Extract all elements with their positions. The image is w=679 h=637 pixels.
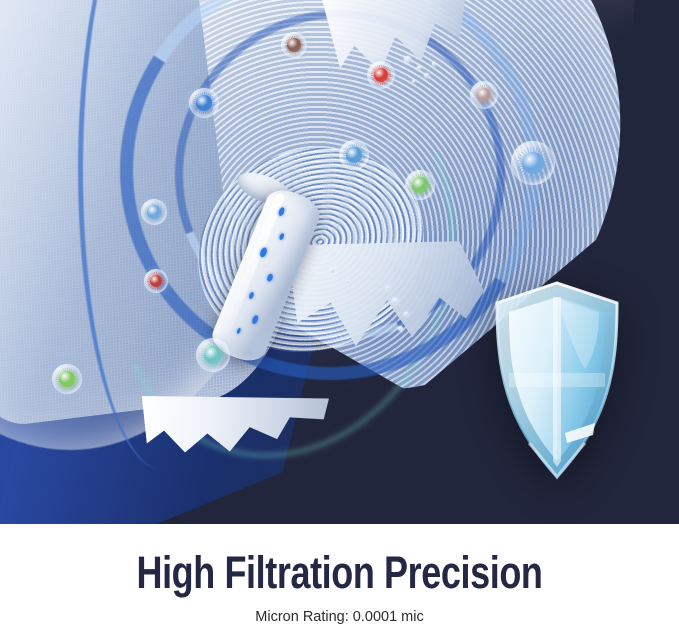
microbe-core [412, 177, 428, 193]
splash-droplet-10 [330, 268, 335, 273]
splash-droplet-11 [346, 280, 349, 283]
splash-droplet-8 [398, 326, 403, 331]
microbe-red-microbe [367, 61, 395, 89]
microbe-blue-microbe-2 [339, 140, 369, 170]
tube-droplet-4 [266, 273, 274, 282]
product-feature-card: High Filtration Precision Micron Rating:… [0, 0, 679, 637]
microbe-brown-microbe [281, 32, 307, 58]
microbe-green-microbe-2 [52, 364, 82, 394]
tube-droplet-2 [279, 233, 285, 241]
tube-droplet-3 [259, 247, 268, 259]
microbe-core [287, 38, 301, 52]
splash-droplet-9 [386, 286, 390, 290]
micron-rating-text: Micron Rating: 0.0001 mic [0, 608, 679, 626]
microbe-core [346, 147, 362, 163]
splash-droplet-1 [404, 56, 411, 63]
splash-droplet-6 [392, 298, 398, 304]
tube-droplet-6 [251, 315, 259, 325]
microbe-green-microbe-1 [405, 170, 435, 200]
hero-image [0, 0, 679, 524]
microbe-teal-microbe [196, 338, 230, 372]
page-title: High Filtration Precision [68, 550, 611, 595]
microbe-core [147, 205, 161, 219]
splash-droplet-5 [432, 62, 436, 66]
splash-droplet-2 [417, 66, 421, 70]
microbe-core [196, 95, 212, 111]
splash-droplet-3 [424, 73, 429, 78]
microbe-red-microbe-2 [144, 269, 168, 293]
microbe-blue-microbe-3 [141, 199, 167, 225]
splash-droplet-7 [404, 312, 408, 316]
microbe-blue-bacterium [511, 141, 555, 185]
tube-droplet-1 [278, 207, 286, 217]
caption-area: High Filtration Precision Micron Rating:… [0, 524, 679, 637]
tube-droplet-5 [248, 292, 254, 300]
tube-droplet-7 [236, 327, 241, 334]
microbe-core [59, 371, 75, 387]
microbe-ring-microbe [470, 81, 498, 109]
splash-droplet-4 [412, 80, 415, 83]
microbe-blue-microbe-1 [189, 88, 219, 118]
microbe-core [204, 346, 222, 364]
shield-icon [489, 277, 625, 485]
